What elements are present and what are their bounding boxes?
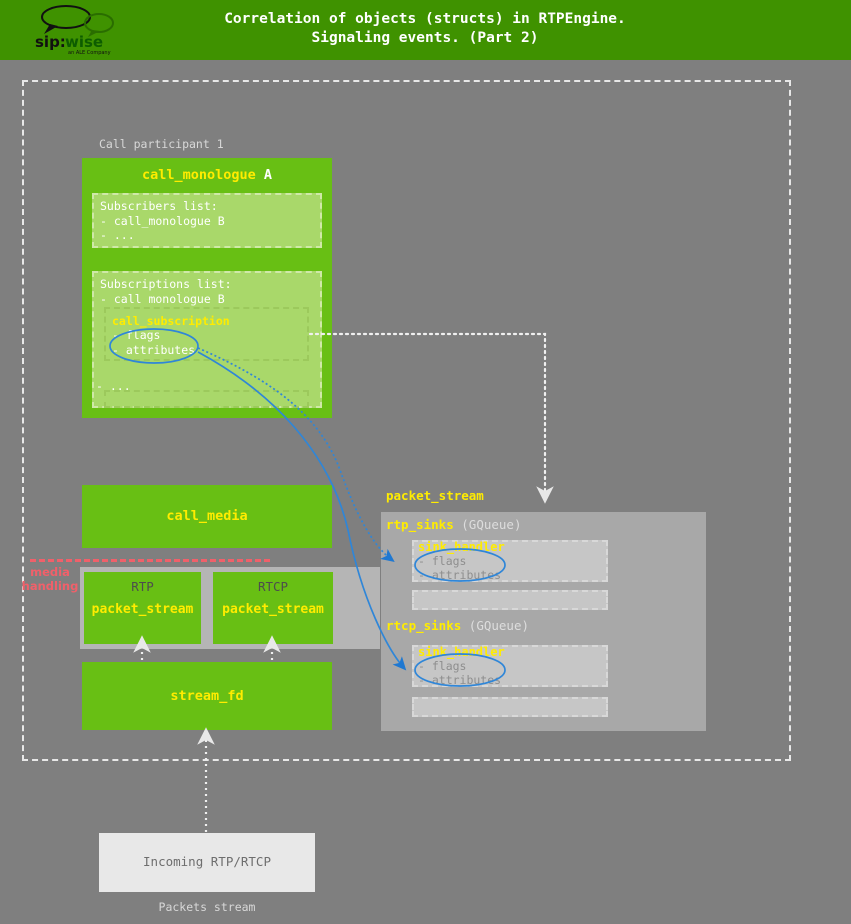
subscribers-list-panel: Subscribers list:- call_monologue B- ... bbox=[92, 193, 322, 248]
subscribers-item-1: - ... bbox=[100, 228, 314, 243]
stream-fd-box[interactable]: stream_fd bbox=[82, 662, 332, 730]
rtcp-sink-handler-flags: - flags bbox=[418, 659, 466, 673]
page-title: Correlation of objects (structs) in RTPE… bbox=[180, 10, 670, 48]
subscribers-item-0: - call_monologue B bbox=[100, 214, 314, 229]
rtcp-sinks-name: rtcp_sinks bbox=[386, 618, 461, 633]
rtp-sink-handler-attributes: - attributes bbox=[418, 568, 501, 582]
stream-fd-title: stream_fd bbox=[82, 688, 332, 704]
subscriptions-heading: Subscriptions list: bbox=[100, 277, 314, 292]
rtp-sink-handler-flags: - flags bbox=[418, 554, 466, 568]
svg-text:wise: wise bbox=[65, 33, 103, 51]
call-participant-label: Call participant 1 bbox=[99, 137, 224, 151]
rtp-sinks-type: (GQueue) bbox=[461, 517, 521, 532]
rtcp-sink-handler-title: sink_handler bbox=[418, 645, 505, 659]
incoming-packets-box: Incoming RTP/RTCP bbox=[99, 833, 315, 892]
rtp-sinks-name: rtp_sinks bbox=[386, 517, 454, 532]
rtcp-sink-handler-attributes: - attributes bbox=[418, 673, 501, 687]
app-header: sip: wise an ALE Company Correlation of … bbox=[0, 0, 851, 60]
rtp-sink-handler-empty-box bbox=[412, 590, 608, 610]
media-handling-line-2: handling bbox=[22, 579, 79, 593]
call-monologue-suffix: A bbox=[264, 167, 272, 183]
rtp-proto-label: RTP bbox=[84, 579, 201, 594]
call-monologue-title: call_monologue A bbox=[82, 167, 332, 183]
packet-stream-label: packet_stream bbox=[386, 488, 484, 503]
media-handling-divider bbox=[30, 559, 270, 562]
sipwise-logo: sip: wise an ALE Company bbox=[30, 4, 130, 56]
rtp-sink-handler-title: sink_handler bbox=[418, 540, 505, 554]
packets-stream-caption: Packets stream bbox=[99, 900, 315, 914]
svg-text:sip:: sip: bbox=[35, 33, 66, 51]
rtcp-sinks-label: rtcp_sinks (GQueue) bbox=[386, 618, 529, 633]
rtp-struct-label: packet_stream bbox=[84, 602, 201, 617]
call-subscription-field-flags: - flags bbox=[112, 328, 160, 342]
rtp-packet-stream-box[interactable]: RTP packet_stream bbox=[84, 572, 201, 644]
empty-subscription-box bbox=[104, 390, 309, 408]
subscribers-heading: Subscribers list: bbox=[100, 199, 314, 214]
incoming-packets-label: Incoming RTP/RTCP bbox=[99, 854, 315, 869]
rtcp-proto-label: RTCP bbox=[213, 579, 333, 594]
subscriptions-item: - call monologue B bbox=[100, 292, 314, 307]
call-monologue-struct: call_monologue bbox=[142, 167, 256, 183]
call-media-box[interactable]: call_media bbox=[82, 485, 332, 548]
call-subscription-title: call_subscription bbox=[112, 314, 230, 328]
media-handling-label: mediahandling bbox=[18, 565, 82, 593]
call-subscription-field-attributes: - attributes bbox=[112, 343, 195, 357]
rtcp-sinks-type: (GQueue) bbox=[469, 618, 529, 633]
rtcp-packet-stream-box[interactable]: RTCP packet_stream bbox=[213, 572, 333, 644]
rtcp-sink-handler-empty-box bbox=[412, 697, 608, 717]
call-media-title: call_media bbox=[82, 508, 332, 524]
title-line-2: Signaling events. (Part 2) bbox=[312, 30, 539, 46]
title-line-1: Correlation of objects (structs) in RTPE… bbox=[224, 11, 626, 27]
media-handling-line-1: media bbox=[30, 565, 70, 579]
rtcp-struct-label: packet_stream bbox=[213, 602, 333, 617]
rtp-sinks-label: rtp_sinks (GQueue) bbox=[386, 517, 521, 532]
svg-text:an ALE Company: an ALE Company bbox=[68, 50, 111, 56]
